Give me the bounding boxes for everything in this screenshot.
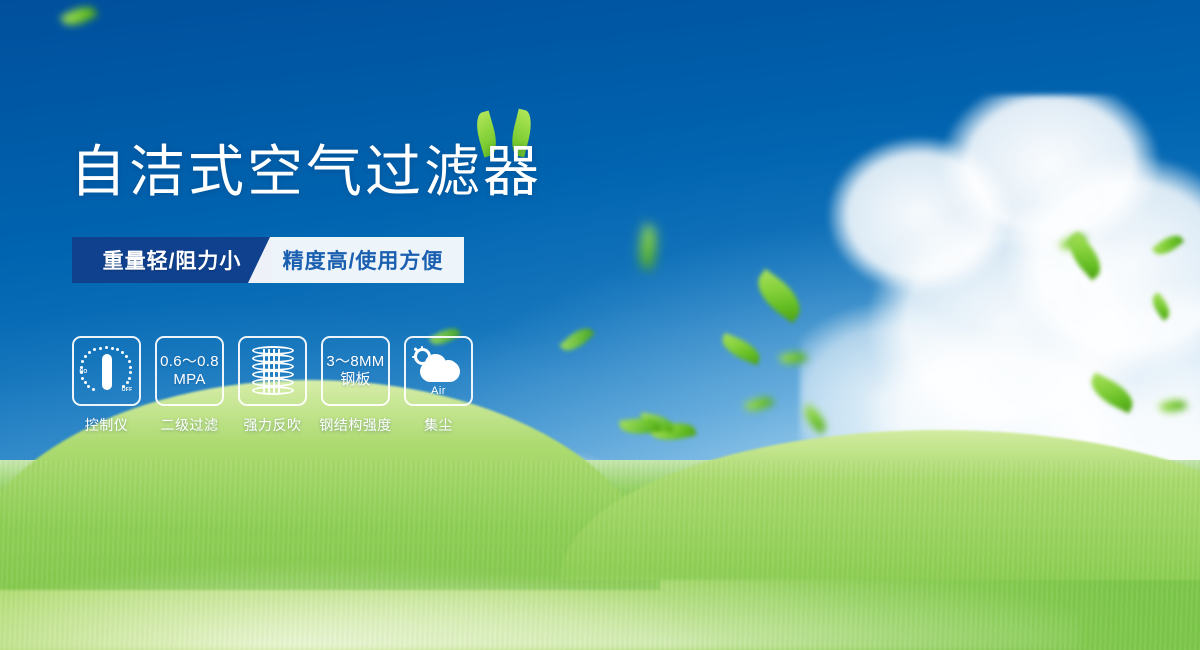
- feature-list: NO OFF 控制仪 0.6～0.8 MPA 二级过滤: [72, 336, 473, 435]
- cloud-puff-right: [440, 360, 457, 375]
- subtitle-right-text: 精度高/使用方便: [269, 245, 444, 275]
- feature-icon-box: [238, 336, 307, 406]
- cloud-air-icon: [412, 346, 466, 384]
- feature-icon-box: 0.6～0.8 MPA: [155, 336, 224, 406]
- subtitle-left-text: 重量轻/阻力小: [103, 245, 242, 275]
- gauge-icon: NO OFF: [80, 345, 134, 397]
- feature-icon-box: 3～8MM 钢板: [321, 336, 390, 406]
- subtitle-segment-left: 重量轻/阻力小: [72, 237, 272, 283]
- feature-icon-box: NO OFF: [72, 336, 141, 406]
- air-label: Air: [431, 385, 446, 397]
- subtitle-segment-right: 精度高/使用方便: [248, 237, 464, 283]
- feature-item-steel[interactable]: 3～8MM 钢板 钢结构强度: [321, 336, 390, 435]
- feature-item-pressure[interactable]: 0.6～0.8 MPA 二级过滤: [155, 336, 224, 435]
- feature-caption: 强力反吹: [244, 415, 302, 435]
- banner-stage: 自洁式空气过滤器 重量轻/阻力小 精度高/使用方便: [0, 0, 1200, 650]
- subtitle-bar: 重量轻/阻力小 精度高/使用方便: [72, 237, 464, 283]
- feature-item-blowback[interactable]: 强力反吹: [238, 336, 307, 435]
- feature-caption: 控制仪: [85, 415, 129, 435]
- gauge-needle: [102, 354, 112, 390]
- pressure-value-line2: MPA: [173, 371, 205, 389]
- feature-item-controller[interactable]: NO OFF 控制仪: [72, 336, 141, 435]
- page-title: 自洁式空气过滤器: [70, 140, 542, 204]
- gauge-label-off: OFF: [122, 387, 133, 393]
- feature-item-dust[interactable]: Air 集尘: [404, 336, 473, 435]
- feature-caption: 钢结构强度: [319, 415, 392, 435]
- steel-value-line2: 钢板: [340, 371, 371, 389]
- filter-coil-icon: [252, 346, 294, 396]
- feature-caption: 二级过滤: [161, 415, 219, 435]
- pressure-value-line1: 0.6～0.8: [160, 353, 219, 371]
- gauge-label-no: NO: [80, 369, 88, 375]
- feature-caption: 集尘: [424, 415, 453, 435]
- steel-value-line1: 3～8MM: [326, 353, 384, 371]
- feature-icon-box: Air: [404, 336, 473, 406]
- grass-texture: [0, 460, 1200, 650]
